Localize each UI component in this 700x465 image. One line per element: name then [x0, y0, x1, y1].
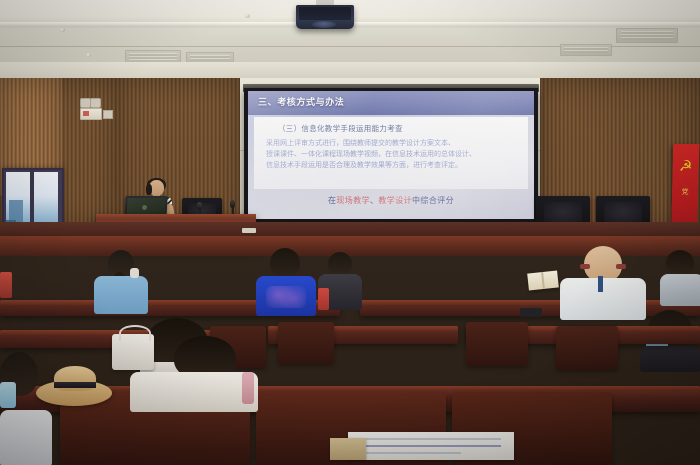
person-torso: [94, 276, 148, 314]
document-text-line: [361, 452, 461, 454]
podium-top-surface: [96, 214, 256, 220]
person-torso: [130, 372, 258, 412]
presenter-hair-side: [146, 184, 152, 195]
audience-person-4: [560, 246, 646, 318]
person-head: [328, 252, 352, 276]
slide-body: （三）信息化教学手段运用能力考查 采用网上评审方式进行，围绕教师提交的教学设计方…: [254, 117, 528, 189]
slide-paragraph: 采用网上评审方式进行，围绕教师提交的教学设计方案文本、: [266, 138, 522, 149]
person-garment-pattern: [266, 286, 306, 308]
audience-person-7: [0, 352, 52, 465]
lecture-hall-photo: 三、考核方式与办法 · · · · · （三）信息化教学手段运用能力考查 采用网…: [0, 0, 700, 465]
slide-footer-line: 在现场教学、教学设计中综合评分: [248, 195, 534, 206]
audience-person-foreground: [130, 336, 258, 406]
slide-paragraph: 信息技术手段运用是否合理及教学效果等方面，进行考查评定。: [266, 160, 522, 171]
slide-title: 三、考核方式与办法: [258, 95, 344, 108]
sprinkler-icon: [86, 53, 91, 57]
hat-band: [54, 382, 96, 388]
slide-footer-suffix: 中综合评分: [412, 196, 454, 205]
slide-corner-mark: · · · · ·: [511, 96, 528, 102]
flag-text: 党: [678, 188, 692, 197]
podium-mic-left: [197, 202, 202, 210]
chair-back: [556, 326, 618, 370]
audience-person-1: [94, 250, 150, 312]
document-text-line: [361, 445, 500, 447]
av-control-panel[interactable]: [80, 108, 102, 120]
desk-remote[interactable]: [242, 228, 256, 233]
person-head: [270, 248, 300, 278]
red-water-bottle: [318, 288, 329, 310]
open-book-on-desk: [527, 270, 559, 290]
person-mask-strap: [130, 268, 139, 278]
printed-document-on-desk: [348, 432, 514, 460]
red-water-bottle: [0, 272, 12, 298]
person-torso: [640, 346, 700, 372]
ceiling-projector: [296, 5, 354, 29]
window-view-object: [9, 200, 23, 222]
slide-footer-highlight-2: 教学设计: [378, 196, 412, 205]
bench-top: [360, 300, 700, 305]
person-head: [666, 250, 694, 276]
slide-footer-highlight-1: 现场教学: [336, 196, 370, 205]
bag-strap: [242, 372, 254, 404]
slide-paragraph: 授课课件、一体化课程现场教学视频，在信息技术运用的总体设计、: [266, 149, 522, 160]
lanyard-icon: [598, 276, 603, 292]
sprinkler-icon: [60, 28, 65, 32]
folder-on-desk: [330, 438, 366, 460]
projected-slide: 三、考核方式与办法 · · · · · （三）信息化教学手段运用能力考查 采用网…: [248, 91, 534, 219]
glasses-icon: [616, 264, 626, 269]
wall-outlet[interactable]: [103, 110, 113, 119]
smartphone-on-desk[interactable]: [520, 308, 542, 317]
projector-lens-icon: [312, 21, 336, 28]
wall-sensor-box: [90, 98, 101, 108]
ceiling-vent: [616, 28, 678, 43]
person-torso: [660, 274, 700, 306]
person-torso: [560, 278, 646, 320]
hammer-sickle-icon: ☭: [676, 156, 695, 178]
chair-back: [466, 322, 528, 366]
slide-heading: （三）信息化教学手段运用能力考查: [278, 123, 526, 134]
audience-person-8: [660, 250, 700, 304]
projector-face: [299, 7, 351, 20]
projection-screen: 三、考核方式与办法 · · · · · （三）信息化教学手段运用能力考查 采用网…: [244, 88, 538, 225]
ceiling-vent: [560, 44, 612, 56]
document-text-line: [361, 438, 500, 440]
person-torso: [0, 410, 52, 465]
face-mask-icon: [0, 382, 16, 408]
glasses-icon: [580, 264, 590, 269]
chair-back: [278, 322, 334, 364]
audience-person-2: [256, 248, 318, 314]
podium-mic-right: [230, 200, 235, 208]
sprinkler-icon: [245, 14, 250, 18]
